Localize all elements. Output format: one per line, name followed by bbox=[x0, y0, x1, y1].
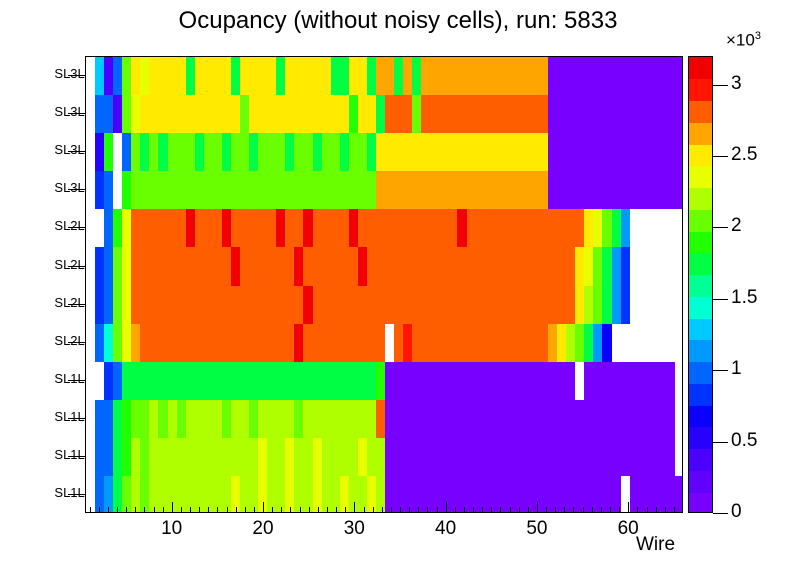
heatmap-cell[interactable] bbox=[240, 324, 250, 363]
heatmap-cell[interactable] bbox=[457, 133, 467, 172]
heatmap-cell[interactable] bbox=[666, 400, 676, 439]
heatmap-cell[interactable] bbox=[421, 362, 431, 401]
heatmap-cell[interactable] bbox=[612, 438, 622, 477]
heatmap-cell[interactable] bbox=[485, 95, 495, 134]
heatmap-cell[interactable] bbox=[313, 133, 323, 172]
heatmap-cell[interactable] bbox=[566, 400, 576, 439]
heatmap-cell[interactable] bbox=[358, 362, 368, 401]
heatmap-cell[interactable] bbox=[666, 362, 676, 401]
heatmap-cell[interactable] bbox=[421, 476, 431, 513]
heatmap-cell[interactable] bbox=[267, 438, 277, 477]
heatmap-cell[interactable] bbox=[630, 362, 640, 401]
heatmap-cell[interactable] bbox=[258, 57, 268, 96]
heatmap-cell[interactable] bbox=[675, 209, 683, 248]
heatmap-cell[interactable] bbox=[593, 209, 603, 248]
heatmap-cell[interactable] bbox=[566, 171, 576, 210]
heatmap-cell[interactable] bbox=[258, 171, 268, 210]
heatmap-cell[interactable] bbox=[95, 133, 105, 172]
heatmap-cell[interactable] bbox=[539, 324, 549, 363]
heatmap-cell[interactable] bbox=[557, 133, 567, 172]
heatmap-cell[interactable] bbox=[648, 133, 658, 172]
heatmap-cell[interactable] bbox=[403, 438, 413, 477]
heatmap-cell[interactable] bbox=[575, 286, 585, 325]
heatmap-cell[interactable] bbox=[494, 133, 504, 172]
heatmap-cell[interactable] bbox=[548, 57, 558, 96]
heatmap-cell[interactable] bbox=[168, 247, 178, 286]
heatmap-cell[interactable] bbox=[421, 286, 431, 325]
heatmap-cell[interactable] bbox=[467, 286, 477, 325]
heatmap-cell[interactable] bbox=[539, 286, 549, 325]
heatmap-cell[interactable] bbox=[575, 57, 585, 96]
heatmap-cell[interactable] bbox=[421, 400, 431, 439]
heatmap-cell[interactable] bbox=[122, 324, 132, 363]
heatmap-cell[interactable] bbox=[403, 362, 413, 401]
heatmap-cell[interactable] bbox=[421, 57, 431, 96]
heatmap-cell[interactable] bbox=[222, 247, 232, 286]
heatmap-cell[interactable] bbox=[131, 209, 141, 248]
heatmap-cell[interactable] bbox=[503, 362, 513, 401]
heatmap-cell[interactable] bbox=[149, 362, 159, 401]
heatmap-cell[interactable] bbox=[213, 438, 223, 477]
heatmap-cell[interactable] bbox=[448, 209, 458, 248]
heatmap-cell[interactable] bbox=[657, 362, 667, 401]
heatmap-cell[interactable] bbox=[249, 209, 259, 248]
heatmap-cell[interactable] bbox=[158, 438, 168, 477]
heatmap-cell[interactable] bbox=[204, 209, 214, 248]
heatmap-cell[interactable] bbox=[494, 438, 504, 477]
heatmap-cell[interactable] bbox=[168, 57, 178, 96]
heatmap-cell[interactable] bbox=[467, 95, 477, 134]
heatmap-cell[interactable] bbox=[593, 57, 603, 96]
heatmap-cell[interactable] bbox=[403, 171, 413, 210]
heatmap-cell[interactable] bbox=[222, 95, 232, 134]
heatmap-cell[interactable] bbox=[557, 209, 567, 248]
heatmap-cell[interactable] bbox=[548, 95, 558, 134]
heatmap-cell[interactable] bbox=[539, 362, 549, 401]
heatmap-cell[interactable] bbox=[358, 324, 368, 363]
heatmap-cell[interactable] bbox=[403, 133, 413, 172]
heatmap-cell[interactable] bbox=[593, 133, 603, 172]
heatmap-cell[interactable] bbox=[521, 247, 531, 286]
heatmap-cell[interactable] bbox=[204, 171, 214, 210]
heatmap-cell[interactable] bbox=[313, 95, 323, 134]
heatmap-cell[interactable] bbox=[657, 286, 667, 325]
heatmap-cell[interactable] bbox=[593, 95, 603, 134]
heatmap-cell[interactable] bbox=[403, 57, 413, 96]
heatmap-cell[interactable] bbox=[131, 171, 141, 210]
heatmap-cell[interactable] bbox=[630, 133, 640, 172]
heatmap-cell[interactable] bbox=[349, 209, 359, 248]
heatmap-cell[interactable] bbox=[358, 209, 368, 248]
heatmap-cell[interactable] bbox=[612, 133, 622, 172]
heatmap-cell[interactable] bbox=[512, 286, 522, 325]
heatmap-cell[interactable] bbox=[294, 400, 304, 439]
heatmap-cell[interactable] bbox=[313, 400, 323, 439]
heatmap-cell[interactable] bbox=[457, 95, 467, 134]
heatmap-cell[interactable] bbox=[376, 438, 386, 477]
heatmap-cell[interactable] bbox=[376, 171, 386, 210]
heatmap-cell[interactable] bbox=[240, 362, 250, 401]
heatmap-cell[interactable] bbox=[113, 324, 123, 363]
heatmap-cell[interactable] bbox=[639, 95, 649, 134]
heatmap-cell[interactable] bbox=[467, 209, 477, 248]
heatmap-cell[interactable] bbox=[666, 209, 676, 248]
heatmap-cell[interactable] bbox=[240, 286, 250, 325]
heatmap-cell[interactable] bbox=[593, 400, 603, 439]
heatmap-cell[interactable] bbox=[467, 247, 477, 286]
heatmap-cell[interactable] bbox=[195, 324, 205, 363]
heatmap-cell[interactable] bbox=[448, 57, 458, 96]
heatmap-cell[interactable] bbox=[602, 247, 612, 286]
heatmap-cell[interactable] bbox=[467, 438, 477, 477]
heatmap-cell[interactable] bbox=[131, 438, 141, 477]
heatmap-cell[interactable] bbox=[249, 171, 259, 210]
heatmap-cell[interactable] bbox=[213, 133, 223, 172]
heatmap-cell[interactable] bbox=[412, 171, 422, 210]
heatmap-cell[interactable] bbox=[131, 324, 141, 363]
heatmap-cell[interactable] bbox=[548, 247, 558, 286]
heatmap-cell[interactable] bbox=[403, 95, 413, 134]
heatmap-cell[interactable] bbox=[340, 362, 350, 401]
heatmap-cell[interactable] bbox=[95, 247, 105, 286]
heatmap-cell[interactable] bbox=[95, 476, 105, 513]
heatmap-cell[interactable] bbox=[222, 362, 232, 401]
heatmap-cell[interactable] bbox=[557, 286, 567, 325]
heatmap-cell[interactable] bbox=[204, 133, 214, 172]
heatmap-cell[interactable] bbox=[294, 95, 304, 134]
heatmap-cell[interactable] bbox=[95, 209, 105, 248]
heatmap-cell[interactable] bbox=[430, 438, 440, 477]
heatmap-cell[interactable] bbox=[131, 133, 141, 172]
heatmap-cell[interactable] bbox=[195, 247, 205, 286]
heatmap-cell[interactable] bbox=[303, 209, 313, 248]
heatmap-cell[interactable] bbox=[149, 133, 159, 172]
heatmap-cell[interactable] bbox=[349, 400, 359, 439]
heatmap-cell[interactable] bbox=[503, 171, 513, 210]
heatmap-cell[interactable] bbox=[503, 57, 513, 96]
heatmap-cell[interactable] bbox=[575, 247, 585, 286]
heatmap-cell[interactable] bbox=[349, 171, 359, 210]
heatmap-cell[interactable] bbox=[149, 438, 159, 477]
heatmap-cell[interactable] bbox=[494, 209, 504, 248]
heatmap-cell[interactable] bbox=[267, 57, 277, 96]
heatmap-cell[interactable] bbox=[457, 438, 467, 477]
heatmap-cell[interactable] bbox=[258, 324, 268, 363]
heatmap-cell[interactable] bbox=[539, 247, 549, 286]
heatmap-cell[interactable] bbox=[303, 286, 313, 325]
heatmap-cell[interactable] bbox=[548, 400, 558, 439]
heatmap-cell[interactable] bbox=[131, 95, 141, 134]
heatmap-cell[interactable] bbox=[648, 400, 658, 439]
heatmap-cell[interactable] bbox=[349, 362, 359, 401]
heatmap-cell[interactable] bbox=[557, 171, 567, 210]
heatmap-cell[interactable] bbox=[494, 247, 504, 286]
heatmap-cell[interactable] bbox=[593, 247, 603, 286]
heatmap-cell[interactable] bbox=[512, 95, 522, 134]
heatmap-cell[interactable] bbox=[512, 362, 522, 401]
heatmap-cell[interactable] bbox=[204, 95, 214, 134]
heatmap-cell[interactable] bbox=[602, 95, 612, 134]
heatmap-cell[interactable] bbox=[612, 209, 622, 248]
heatmap-cell[interactable] bbox=[566, 324, 576, 363]
heatmap-cell[interactable] bbox=[602, 286, 612, 325]
heatmap-cell[interactable] bbox=[557, 247, 567, 286]
heatmap-cell[interactable] bbox=[204, 362, 214, 401]
heatmap-cell[interactable] bbox=[303, 57, 313, 96]
heatmap-cell[interactable] bbox=[358, 438, 368, 477]
heatmap-cell[interactable] bbox=[276, 133, 286, 172]
heatmap-cell[interactable] bbox=[349, 57, 359, 96]
heatmap-cell[interactable] bbox=[657, 400, 667, 439]
heatmap-cell[interactable] bbox=[213, 247, 223, 286]
heatmap-cell[interactable] bbox=[249, 95, 259, 134]
heatmap-cell[interactable] bbox=[168, 362, 178, 401]
heatmap-cell[interactable] bbox=[376, 476, 386, 513]
heatmap-cell[interactable] bbox=[485, 438, 495, 477]
heatmap-cell[interactable] bbox=[222, 438, 232, 477]
heatmap-cell[interactable] bbox=[430, 171, 440, 210]
heatmap-cell[interactable] bbox=[303, 324, 313, 363]
heatmap-cell[interactable] bbox=[122, 133, 132, 172]
heatmap-cell[interactable] bbox=[195, 95, 205, 134]
heatmap-cell[interactable] bbox=[467, 476, 477, 513]
heatmap-cell[interactable] bbox=[276, 57, 286, 96]
heatmap-cell[interactable] bbox=[95, 171, 105, 210]
heatmap-cell[interactable] bbox=[367, 362, 377, 401]
heatmap-cell[interactable] bbox=[521, 362, 531, 401]
heatmap-cell[interactable] bbox=[557, 400, 567, 439]
heatmap-cell[interactable] bbox=[303, 133, 313, 172]
heatmap-cell[interactable] bbox=[666, 324, 676, 363]
heatmap-cell[interactable] bbox=[575, 95, 585, 134]
heatmap-cell[interactable] bbox=[267, 324, 277, 363]
heatmap-cell[interactable] bbox=[95, 400, 105, 439]
heatmap-cell[interactable] bbox=[521, 286, 531, 325]
heatmap-cell[interactable] bbox=[195, 171, 205, 210]
heatmap-cell[interactable] bbox=[367, 438, 377, 477]
heatmap-cell[interactable] bbox=[376, 133, 386, 172]
heatmap-cell[interactable] bbox=[358, 247, 368, 286]
heatmap-cell[interactable] bbox=[403, 324, 413, 363]
heatmap-cell[interactable] bbox=[557, 324, 567, 363]
heatmap-cell[interactable] bbox=[358, 400, 368, 439]
heatmap-cell[interactable] bbox=[186, 438, 196, 477]
heatmap-cell[interactable] bbox=[158, 400, 168, 439]
heatmap-cell[interactable] bbox=[648, 324, 658, 363]
heatmap-cell[interactable] bbox=[149, 171, 159, 210]
heatmap-cell[interactable] bbox=[675, 57, 683, 96]
heatmap-cell[interactable] bbox=[249, 400, 259, 439]
heatmap-cell[interactable] bbox=[467, 171, 477, 210]
heatmap-cell[interactable] bbox=[222, 171, 232, 210]
heatmap-cell[interactable] bbox=[612, 324, 622, 363]
heatmap-cell[interactable] bbox=[494, 57, 504, 96]
heatmap-cell[interactable] bbox=[122, 57, 132, 96]
heatmap-cell[interactable] bbox=[548, 324, 558, 363]
heatmap-cell[interactable] bbox=[168, 95, 178, 134]
heatmap-cell[interactable] bbox=[249, 438, 259, 477]
heatmap-cell[interactable] bbox=[213, 362, 223, 401]
heatmap-cell[interactable] bbox=[186, 286, 196, 325]
heatmap-cell[interactable] bbox=[575, 133, 585, 172]
heatmap-cell[interactable] bbox=[113, 95, 123, 134]
heatmap-cell[interactable] bbox=[340, 438, 350, 477]
heatmap-cell[interactable] bbox=[358, 286, 368, 325]
heatmap-cell[interactable] bbox=[394, 57, 404, 96]
heatmap-cell[interactable] bbox=[512, 247, 522, 286]
heatmap-cell[interactable] bbox=[412, 438, 422, 477]
heatmap-cell[interactable] bbox=[430, 476, 440, 513]
heatmap-cell[interactable] bbox=[630, 171, 640, 210]
heatmap-cell[interactable] bbox=[358, 57, 368, 96]
heatmap-cell[interactable] bbox=[394, 438, 404, 477]
heatmap-cell[interactable] bbox=[503, 400, 513, 439]
heatmap-cell[interactable] bbox=[612, 95, 622, 134]
heatmap-cell[interactable] bbox=[367, 57, 377, 96]
heatmap-cell[interactable] bbox=[313, 438, 323, 477]
heatmap-cell[interactable] bbox=[303, 247, 313, 286]
heatmap-cell[interactable] bbox=[131, 57, 141, 96]
heatmap-cell[interactable] bbox=[503, 247, 513, 286]
heatmap-cell[interactable] bbox=[639, 438, 649, 477]
heatmap-cell[interactable] bbox=[331, 57, 341, 96]
heatmap-cell[interactable] bbox=[548, 133, 558, 172]
heatmap-cell[interactable] bbox=[675, 324, 683, 363]
heatmap-cell[interactable] bbox=[648, 247, 658, 286]
heatmap-cell[interactable] bbox=[195, 438, 205, 477]
heatmap-cell[interactable] bbox=[394, 476, 404, 513]
heatmap-cell[interactable] bbox=[258, 247, 268, 286]
heatmap-cell[interactable] bbox=[340, 286, 350, 325]
heatmap-cell[interactable] bbox=[657, 133, 667, 172]
heatmap-cell[interactable] bbox=[303, 95, 313, 134]
heatmap-cell[interactable] bbox=[512, 400, 522, 439]
heatmap-cell[interactable] bbox=[276, 362, 286, 401]
heatmap-cell[interactable] bbox=[104, 324, 114, 363]
heatmap-cell[interactable] bbox=[340, 95, 350, 134]
heatmap-cell[interactable] bbox=[376, 57, 386, 96]
heatmap-cell[interactable] bbox=[548, 171, 558, 210]
heatmap-cell[interactable] bbox=[331, 95, 341, 134]
heatmap-cell[interactable] bbox=[95, 95, 105, 134]
heatmap-cell[interactable] bbox=[675, 133, 683, 172]
heatmap-cell[interactable] bbox=[394, 324, 404, 363]
heatmap-cell[interactable] bbox=[539, 95, 549, 134]
heatmap-cell[interactable] bbox=[186, 324, 196, 363]
heatmap-cell[interactable] bbox=[158, 286, 168, 325]
heatmap-cell[interactable] bbox=[512, 57, 522, 96]
heatmap-cell[interactable] bbox=[657, 324, 667, 363]
heatmap-cell[interactable] bbox=[204, 400, 214, 439]
heatmap-cell[interactable] bbox=[448, 247, 458, 286]
heatmap-cell[interactable] bbox=[675, 171, 683, 210]
heatmap-cell[interactable] bbox=[104, 247, 114, 286]
heatmap-cell[interactable] bbox=[575, 324, 585, 363]
heatmap-cell[interactable] bbox=[512, 324, 522, 363]
heatmap-cell[interactable] bbox=[503, 133, 513, 172]
heatmap-cell[interactable] bbox=[213, 324, 223, 363]
heatmap-cell[interactable] bbox=[349, 95, 359, 134]
heatmap-cell[interactable] bbox=[367, 286, 377, 325]
heatmap-cell[interactable] bbox=[367, 95, 377, 134]
heatmap-cell[interactable] bbox=[593, 362, 603, 401]
heatmap-cell[interactable] bbox=[394, 247, 404, 286]
heatmap-cell[interactable] bbox=[612, 57, 622, 96]
heatmap-cell[interactable] bbox=[276, 247, 286, 286]
heatmap-cell[interactable] bbox=[593, 438, 603, 477]
heatmap-cell[interactable] bbox=[213, 400, 223, 439]
heatmap-cell[interactable] bbox=[249, 57, 259, 96]
heatmap-cell[interactable] bbox=[240, 209, 250, 248]
heatmap-cell[interactable] bbox=[630, 438, 640, 477]
heatmap-cell[interactable] bbox=[448, 133, 458, 172]
heatmap-cell[interactable] bbox=[113, 286, 123, 325]
heatmap-cell[interactable] bbox=[122, 171, 132, 210]
heatmap-cell[interactable] bbox=[421, 171, 431, 210]
heatmap-cell[interactable] bbox=[485, 247, 495, 286]
heatmap-cell[interactable] bbox=[122, 286, 132, 325]
heatmap-cell[interactable] bbox=[548, 286, 558, 325]
heatmap-cell[interactable] bbox=[675, 362, 683, 401]
heatmap-cell[interactable] bbox=[394, 95, 404, 134]
heatmap-cell[interactable] bbox=[639, 362, 649, 401]
heatmap-cell[interactable] bbox=[376, 324, 386, 363]
heatmap-cell[interactable] bbox=[294, 171, 304, 210]
heatmap-cell[interactable] bbox=[612, 171, 622, 210]
heatmap-cell[interactable] bbox=[204, 438, 214, 477]
heatmap-cell[interactable] bbox=[521, 209, 531, 248]
heatmap-cell[interactable] bbox=[358, 95, 368, 134]
heatmap-cell[interactable] bbox=[467, 324, 477, 363]
heatmap-cell[interactable] bbox=[168, 171, 178, 210]
heatmap-cell[interactable] bbox=[557, 57, 567, 96]
heatmap-cell[interactable] bbox=[349, 438, 359, 477]
heatmap-cell[interactable] bbox=[258, 286, 268, 325]
heatmap-cell[interactable] bbox=[331, 171, 341, 210]
heatmap-cell[interactable] bbox=[349, 133, 359, 172]
heatmap-cell[interactable] bbox=[612, 362, 622, 401]
heatmap-cell[interactable] bbox=[421, 324, 431, 363]
heatmap-cell[interactable] bbox=[303, 438, 313, 477]
heatmap-cell[interactable] bbox=[95, 324, 105, 363]
heatmap-cell[interactable] bbox=[430, 95, 440, 134]
heatmap-cell[interactable] bbox=[113, 133, 123, 172]
heatmap-cell[interactable] bbox=[131, 286, 141, 325]
heatmap-cell[interactable] bbox=[448, 362, 458, 401]
heatmap-cell[interactable] bbox=[630, 247, 640, 286]
heatmap-cell[interactable] bbox=[557, 438, 567, 477]
heatmap-cell[interactable] bbox=[657, 247, 667, 286]
heatmap-cell[interactable] bbox=[539, 209, 549, 248]
heatmap-cell[interactable] bbox=[639, 209, 649, 248]
heatmap-cell[interactable] bbox=[122, 400, 132, 439]
heatmap-cell[interactable] bbox=[113, 57, 123, 96]
heatmap-cell[interactable] bbox=[303, 400, 313, 439]
heatmap-cell[interactable] bbox=[158, 95, 168, 134]
heatmap-cell[interactable] bbox=[168, 400, 178, 439]
heatmap-cell[interactable] bbox=[149, 95, 159, 134]
heatmap-cell[interactable] bbox=[394, 171, 404, 210]
heatmap-cell[interactable] bbox=[639, 171, 649, 210]
heatmap-cell[interactable] bbox=[240, 133, 250, 172]
heatmap-cell[interactable] bbox=[666, 247, 676, 286]
heatmap-cell[interactable] bbox=[104, 438, 114, 477]
heatmap-cell[interactable] bbox=[666, 57, 676, 96]
heatmap-cell[interactable] bbox=[666, 133, 676, 172]
heatmap-cell[interactable] bbox=[267, 362, 277, 401]
heatmap-cell[interactable] bbox=[412, 476, 422, 513]
heatmap-cell[interactable] bbox=[639, 57, 649, 96]
